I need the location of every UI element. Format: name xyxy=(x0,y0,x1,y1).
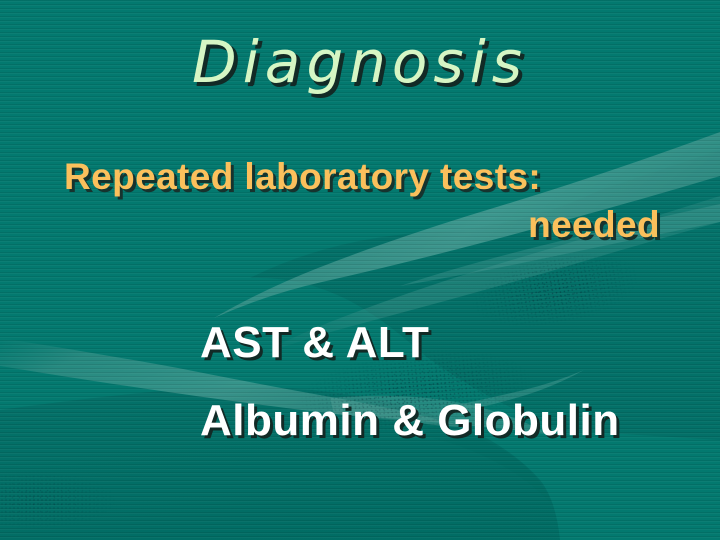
subtitle-line-1: Repeated laboratory tests: xyxy=(64,156,660,198)
body-line-1: AST & ALT xyxy=(200,318,429,368)
presentation-slide: Diagnosis Repeated laboratory tests: nee… xyxy=(0,0,720,540)
body-line-2: Albumin & Globulin xyxy=(200,396,620,446)
subtitle-line-2: needed xyxy=(64,204,660,246)
watermark-dither-speckle-left xyxy=(0,470,120,530)
watermark-dither-speckle-right xyxy=(465,241,645,339)
slide-title: Diagnosis xyxy=(0,28,720,96)
